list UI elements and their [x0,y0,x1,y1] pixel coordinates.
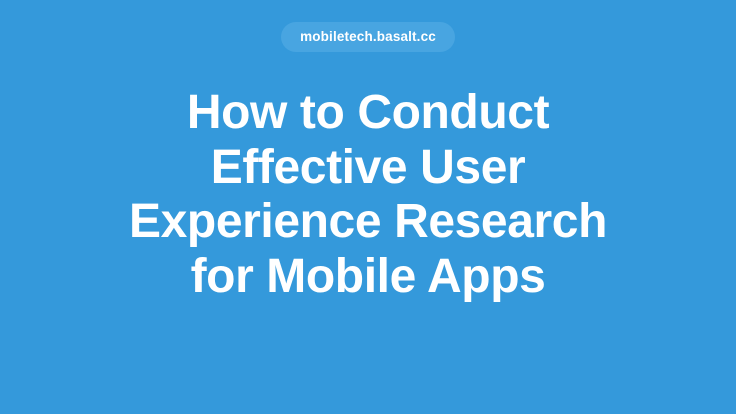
social-share-card: mobiletech.basalt.cc How to Conduct Effe… [0,0,736,414]
title-line-2: Effective User [18,141,718,196]
title-line-1: How to Conduct [18,86,718,141]
title-line-4: for Mobile Apps [18,250,718,305]
title-line-3: Experience Research [18,195,718,250]
badge-row: mobiletech.basalt.cc [0,22,736,52]
domain-badge[interactable]: mobiletech.basalt.cc [281,22,455,52]
domain-badge-label: mobiletech.basalt.cc [300,30,436,44]
page-title: How to Conduct Effective User Experience… [0,86,736,304]
